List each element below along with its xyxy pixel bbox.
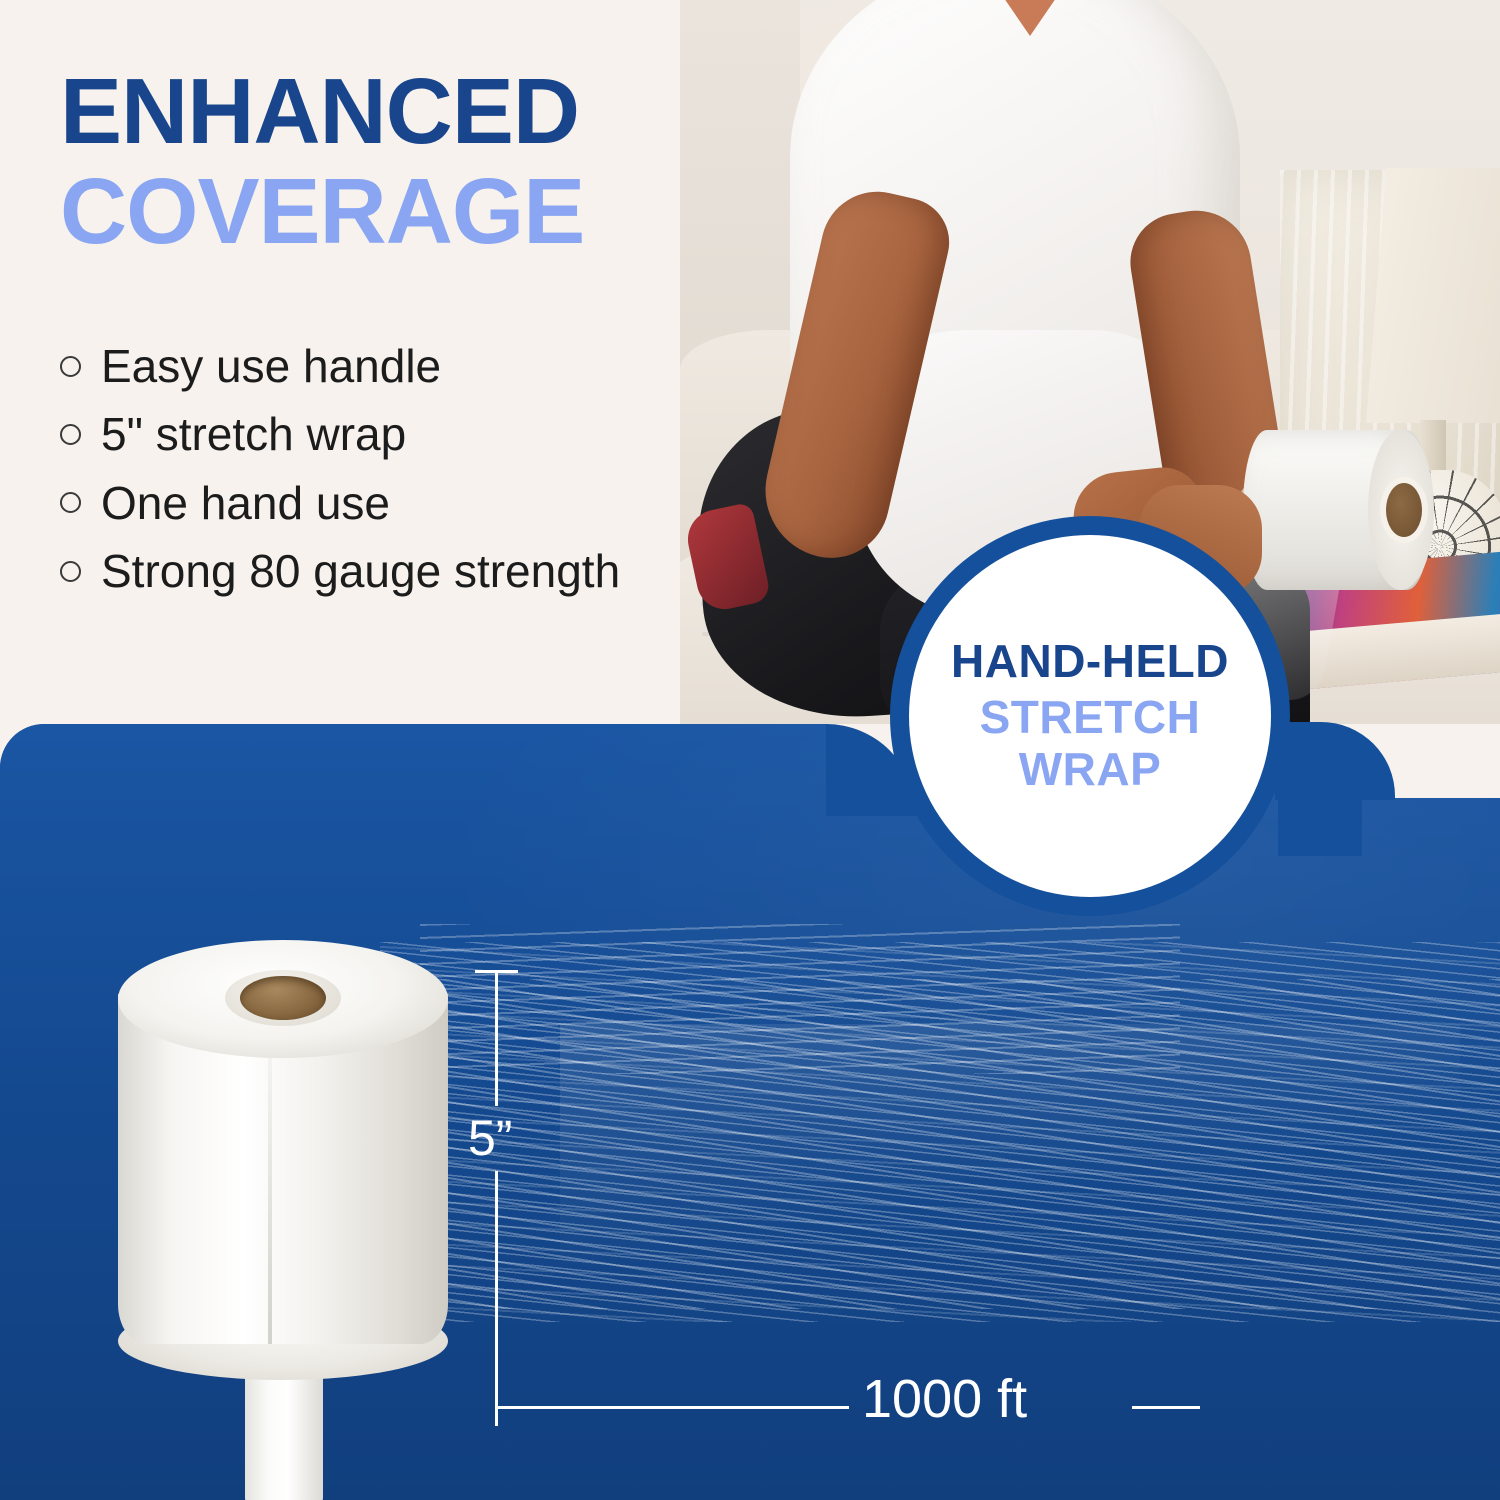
list-item: 5" stretch wrap <box>60 410 760 458</box>
bullet-circle-icon <box>60 356 81 377</box>
badge-line-3: WRAP <box>1019 746 1162 794</box>
photo-wrap-roll-core <box>1386 483 1422 537</box>
headline-line-2: COVERAGE <box>60 166 760 257</box>
bullet-circle-icon <box>60 492 81 513</box>
photo-lamp-shade <box>1366 168 1500 423</box>
list-item: One hand use <box>60 479 760 527</box>
product-infographic: ENHANCED COVERAGE Easy use handle 5" str… <box>0 0 1500 1500</box>
product-illustration: 5” 1000 ft <box>0 724 1500 1500</box>
length-dimension-label: 1000 ft <box>862 1368 1027 1430</box>
status-badge: HAND-HELD STRETCH WRAP <box>890 516 1290 916</box>
length-dimension-line-left <box>497 1406 849 1409</box>
badge-line-1: HAND-HELD <box>951 638 1229 686</box>
width-dimension-label: 5” <box>468 1109 512 1167</box>
feature-label: 5" stretch wrap <box>101 410 406 458</box>
headline-line-1: ENHANCED <box>60 66 760 157</box>
badge-inner: HAND-HELD STRETCH WRAP <box>909 535 1271 897</box>
width-dimension-line-top <box>495 971 498 1106</box>
feature-label: Strong 80 gauge strength <box>101 547 620 595</box>
feature-label: One hand use <box>101 479 390 527</box>
bullet-circle-icon <box>60 561 81 582</box>
list-item: Strong 80 gauge strength <box>60 547 760 595</box>
list-item: Easy use handle <box>60 342 760 390</box>
headline: ENHANCED COVERAGE <box>60 66 760 257</box>
stretch-film-sheen <box>560 1024 1460 1264</box>
feature-list: Easy use handle 5" stretch wrap One hand… <box>60 342 760 615</box>
width-dimension-line-bottom <box>495 1171 498 1417</box>
length-dimension-line-right <box>1132 1406 1200 1409</box>
bullet-circle-icon <box>60 424 81 445</box>
badge-line-2: STRETCH <box>980 694 1201 742</box>
roll-cardboard-core-icon <box>240 976 326 1020</box>
feature-label: Easy use handle <box>101 342 441 390</box>
